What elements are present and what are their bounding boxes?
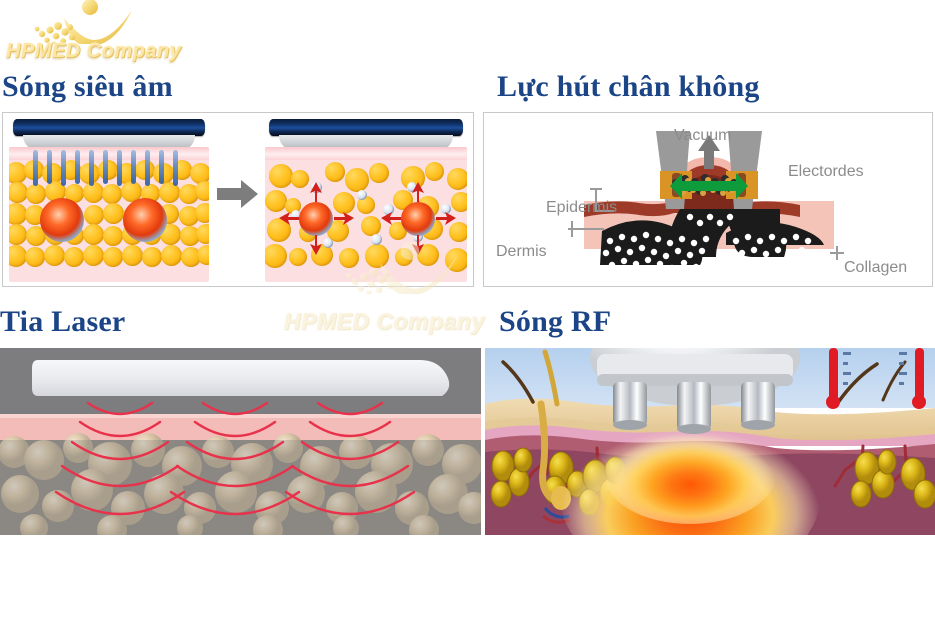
- infographic-root: Sóng siêu âm: [0, 0, 935, 617]
- ultrasound-beam-icon: [47, 150, 52, 184]
- ultrasound-beam-icon: [173, 150, 178, 186]
- label-vacuum: Vacuum: [674, 127, 732, 145]
- cavitation-burst-arrows-icon: [381, 182, 457, 256]
- watermark-brand-top: HPMED Company: [6, 40, 181, 63]
- panel-title-ultrasound: Sóng siêu âm: [2, 70, 173, 104]
- ultrasound-beam-icon: [145, 150, 150, 186]
- cavitation-bubble-icon: [123, 198, 167, 242]
- ultrasound-figure: [2, 112, 474, 287]
- ultrasound-before-illustration: [9, 119, 209, 282]
- watermark-brand-center: HPMED Company: [284, 308, 485, 335]
- cavitation-bubble-icon: [40, 198, 84, 242]
- panel-title-rf: Sóng RF: [499, 305, 611, 339]
- ultrasound-beam-icon: [131, 150, 136, 184]
- radiofrequency-skin-heating-diagram: [485, 348, 935, 535]
- fat-layer: [9, 160, 209, 282]
- ultrasound-probe-icon: [269, 119, 463, 136]
- ultrasound-beam-icon: [117, 150, 122, 186]
- ultrasound-after-illustration: [265, 119, 467, 282]
- laser-wave-skin-diagram: [0, 348, 481, 535]
- ultrasound-probe-icon: [13, 119, 205, 136]
- rf-handpiece-icon: [590, 348, 800, 434]
- rf-electrode-tip-icon: [613, 382, 647, 426]
- water-bubble-icon: [357, 190, 367, 200]
- skin-cross-section: [265, 147, 467, 282]
- epidermis-layer: [265, 147, 467, 160]
- rf-electrode-tip-icon: [741, 382, 775, 426]
- label-epidermis: Epidermis: [546, 199, 617, 217]
- panel-title-vacuum: Lực hút chân không: [497, 70, 760, 104]
- cavitation-burst-arrows-icon: [279, 182, 355, 256]
- panel-title-laser: Tia Laser: [0, 305, 125, 339]
- ultrasound-beam-icon: [33, 150, 38, 186]
- watermark-logo-top: HPMED Company: [6, 2, 176, 64]
- ultrasound-beam-icon: [89, 150, 94, 186]
- label-collagen: Collagen: [844, 259, 907, 277]
- epidermis-layer: [9, 147, 209, 160]
- ultrasound-beam-icon: [75, 150, 80, 184]
- ultrasound-beam-icon: [61, 150, 66, 186]
- laser-figure: [0, 348, 481, 535]
- rf-electrode-tip-icon: [677, 382, 711, 430]
- rf-figure: [485, 348, 935, 535]
- fragmented-fat-layer: [265, 160, 467, 282]
- ultrasound-beam-icon: [103, 150, 108, 184]
- label-electrodes: Electordes: [788, 163, 864, 181]
- label-dermis: Dermis: [496, 243, 547, 261]
- ultrasound-beam-icon: [159, 150, 164, 184]
- skin-cross-section: [9, 147, 209, 282]
- vacuum-figure: Vacuum Electordes Epidermis Dermis Colla…: [483, 112, 933, 287]
- hpmed-swoosh-logo-icon: [34, 0, 146, 44]
- transition-arrow-icon: [217, 179, 259, 215]
